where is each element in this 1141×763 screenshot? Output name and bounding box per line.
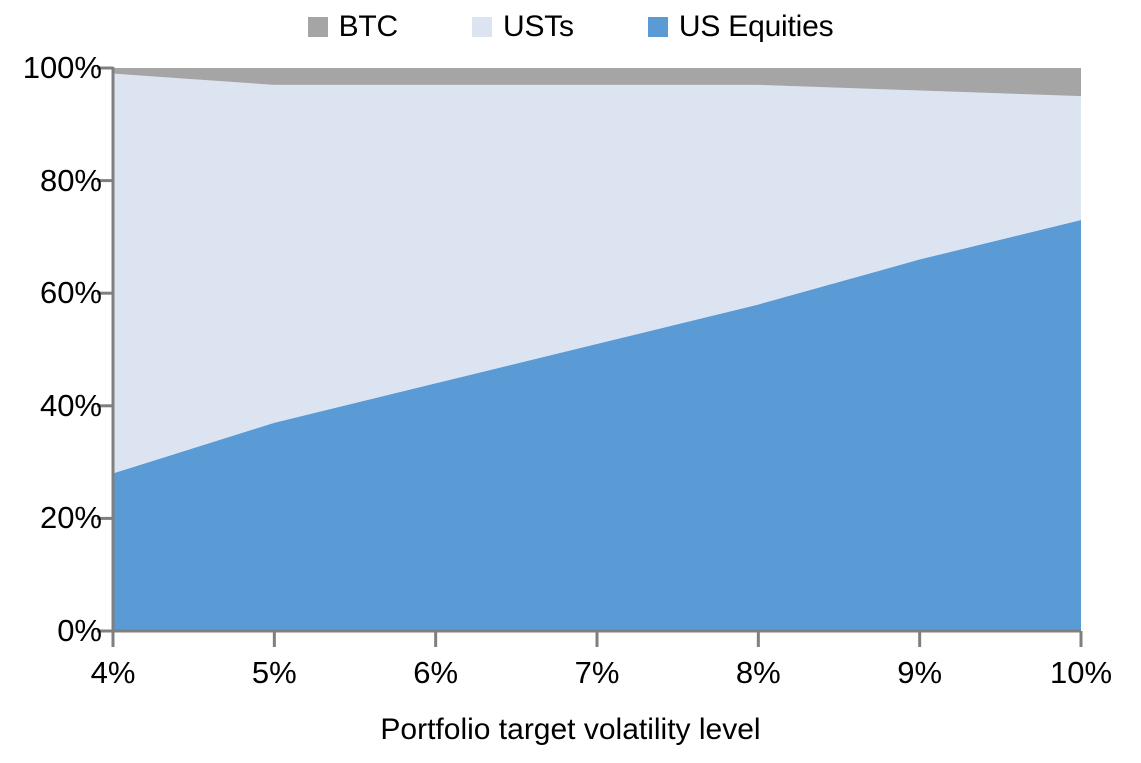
x-tick-label: 5% (252, 657, 297, 688)
x-tick-label: 6% (413, 657, 458, 688)
x-tick-label: 10% (1050, 657, 1112, 688)
x-tick-label: 7% (575, 657, 620, 688)
chart-root: BTC USTs US Equities 0%20%40%60%80%100% … (0, 0, 1141, 763)
x-axis-title: Portfolio target volatility level (0, 713, 1141, 747)
x-tick-label: 9% (897, 657, 942, 688)
x-tick-label: 8% (736, 657, 781, 688)
plot-area: 0%20%40%60%80%100% 4%5%6%7%8%9%10% (0, 0, 1141, 763)
x-axis-tick-labels: 4%5%6%7%8%9%10% (0, 0, 1141, 763)
x-tick-label: 4% (91, 657, 136, 688)
